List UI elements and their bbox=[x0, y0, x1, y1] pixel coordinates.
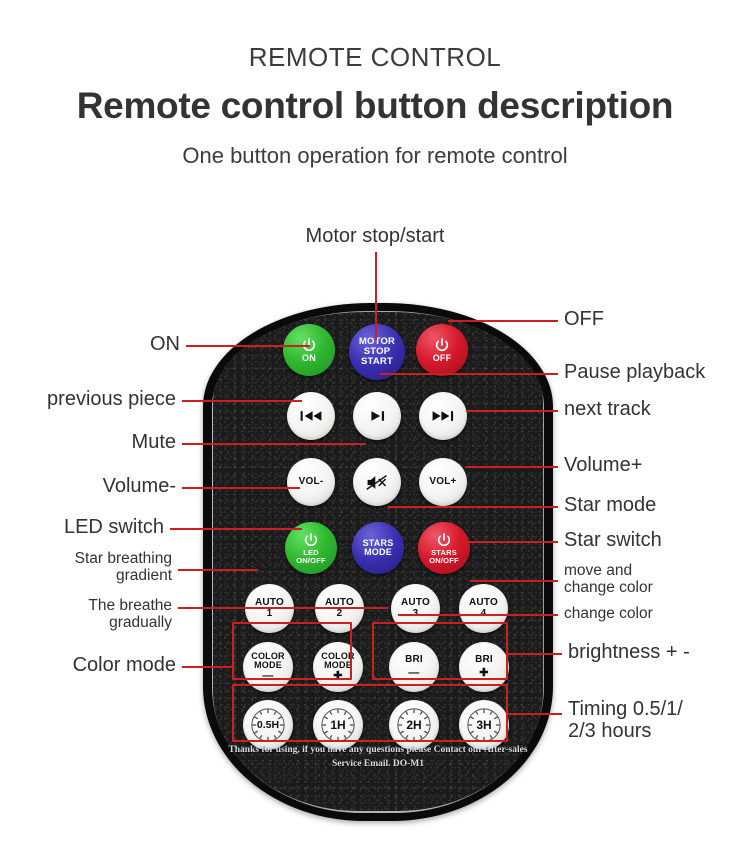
callout-star-mode: Star mode bbox=[564, 494, 744, 516]
button-off-label: OFF bbox=[433, 354, 452, 363]
button-timer-1h-label: 1H bbox=[330, 719, 345, 731]
button-auto-4-label: AUTO bbox=[469, 598, 498, 608]
leader-next-track bbox=[466, 410, 558, 412]
button-next-track[interactable] bbox=[419, 392, 467, 440]
callout-pause: Pause playback bbox=[564, 361, 750, 383]
highlight-box-color-mode bbox=[232, 622, 352, 680]
mute-icon bbox=[365, 473, 389, 492]
callout-star-switch: Star switch bbox=[564, 529, 744, 551]
button-motor-label: MOTOR STOP START bbox=[359, 337, 395, 366]
callout-next-track: next track bbox=[564, 398, 744, 420]
callout-breathe-gradually: The breathe gradually bbox=[10, 597, 172, 632]
leader-change-color bbox=[398, 614, 558, 616]
callout-volume-down: Volume- bbox=[16, 475, 176, 497]
play-pause-icon bbox=[364, 408, 390, 424]
callout-star-breathing: Star breathing gradient bbox=[10, 550, 172, 585]
leader-volume-up bbox=[466, 466, 558, 468]
callout-color-mode: Color mode bbox=[10, 654, 176, 676]
power-icon bbox=[434, 337, 450, 353]
power-icon bbox=[436, 532, 452, 548]
leader-led-switch bbox=[170, 528, 302, 530]
button-on[interactable]: ON bbox=[283, 324, 335, 376]
button-on-label: ON bbox=[302, 354, 316, 363]
button-volume-down[interactable]: VOL- bbox=[287, 458, 335, 506]
callout-timing: Timing 0.5/1/ 2/3 hours bbox=[568, 698, 750, 743]
leader-previous bbox=[182, 400, 302, 402]
callout-on: ON bbox=[26, 333, 180, 355]
leader-mute bbox=[182, 443, 366, 445]
callout-volume-up: Volume+ bbox=[564, 454, 744, 476]
button-timer-05h-label: 0.5H bbox=[257, 720, 279, 731]
leader-motor bbox=[375, 252, 377, 340]
remote-diagram: ON MOTOR STOP START OFF bbox=[0, 0, 750, 866]
button-auto-2-number: 2 bbox=[337, 609, 343, 619]
leader-move-change-color bbox=[470, 580, 558, 582]
callout-led-switch: LED switch bbox=[6, 516, 164, 538]
button-led-label: LED ON/OFF bbox=[296, 549, 326, 564]
leader-pause bbox=[380, 373, 558, 375]
remote-footer-text: Thanks for using, if you have any questi… bbox=[213, 744, 543, 772]
leader-color-mode bbox=[182, 666, 234, 668]
button-motor-stop-start[interactable]: MOTOR STOP START bbox=[349, 324, 405, 380]
button-timer-2h-label: 2H bbox=[406, 719, 421, 731]
leader-volume-down bbox=[182, 487, 300, 489]
remote-body: ON MOTOR STOP START OFF bbox=[203, 303, 553, 821]
callout-motor: Motor stop/start bbox=[275, 225, 475, 247]
leader-star-mode bbox=[388, 506, 558, 508]
leader-star-breathing bbox=[178, 569, 258, 571]
button-play-pause[interactable] bbox=[353, 392, 401, 440]
button-timer-3h-label: 3H bbox=[476, 719, 491, 731]
previous-track-icon bbox=[298, 408, 324, 424]
button-off[interactable]: OFF bbox=[416, 324, 468, 376]
callout-brightness: brightness + - bbox=[568, 641, 750, 663]
button-stars-mode[interactable]: STARS MODE bbox=[352, 522, 404, 574]
leader-timing bbox=[506, 713, 562, 715]
power-icon bbox=[303, 532, 319, 548]
button-auto-1-number: 1 bbox=[267, 609, 273, 619]
button-stars-mode-label: STARS MODE bbox=[363, 539, 394, 557]
button-stars-onoff[interactable]: STARS ON/OFF bbox=[418, 522, 470, 574]
button-volume-up-label: VOL+ bbox=[429, 477, 456, 487]
highlight-box-brightness bbox=[372, 622, 508, 680]
leader-on bbox=[186, 345, 310, 347]
callout-mute: Mute bbox=[26, 431, 176, 453]
button-auto-3-label: AUTO bbox=[401, 598, 430, 608]
button-volume-down-label: VOL- bbox=[299, 477, 324, 487]
leader-brightness bbox=[506, 653, 562, 655]
next-track-icon bbox=[430, 408, 456, 424]
highlight-box-timing bbox=[232, 684, 508, 742]
callout-move-change-color: move and change color bbox=[564, 562, 744, 597]
leader-star-switch bbox=[460, 541, 558, 543]
leader-breathe-gradually bbox=[178, 607, 388, 609]
callout-change-color: change color bbox=[564, 605, 744, 622]
leader-off bbox=[448, 320, 558, 322]
button-volume-up[interactable]: VOL+ bbox=[419, 458, 467, 506]
button-mute[interactable] bbox=[353, 458, 401, 506]
callout-previous: previous piece bbox=[6, 388, 176, 410]
button-stars-onoff-label: STARS ON/OFF bbox=[429, 549, 459, 564]
callout-off: OFF bbox=[564, 308, 744, 330]
